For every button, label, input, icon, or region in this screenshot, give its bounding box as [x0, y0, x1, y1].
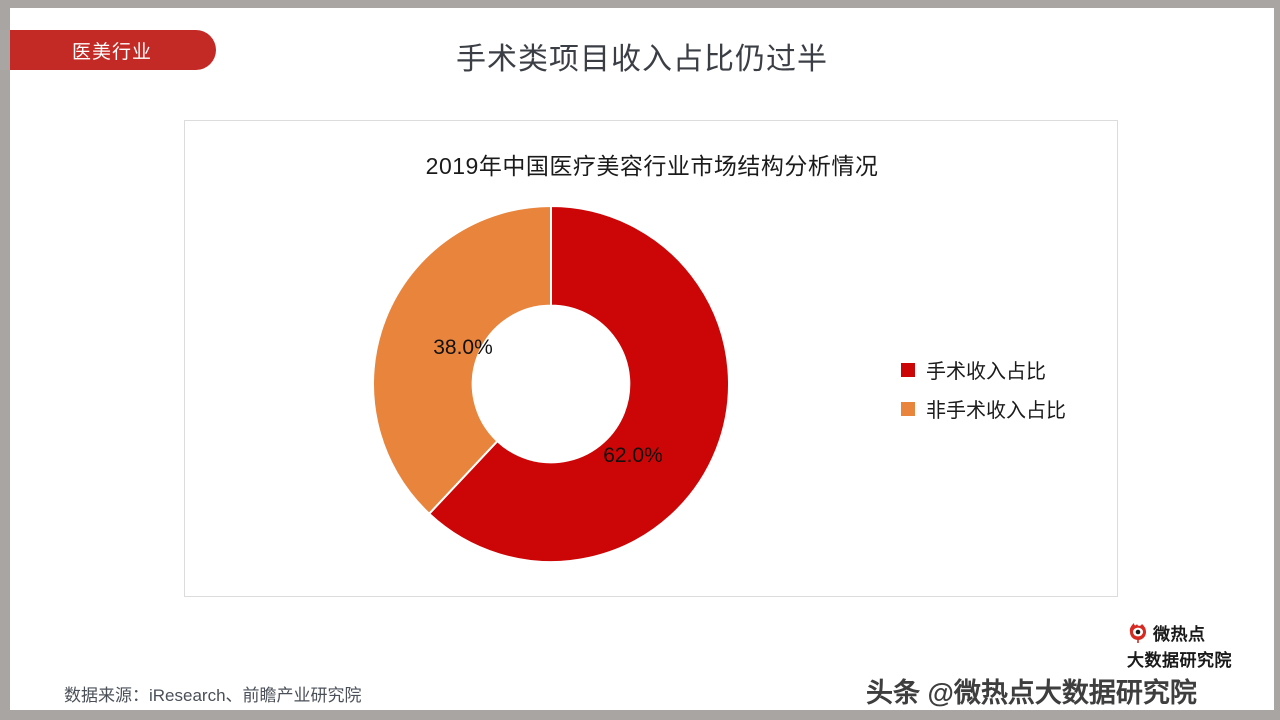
chart-title: 2019年中国医疗美容行业市场结构分析情况: [185, 147, 1119, 181]
brand-logo-subtitle: 大数据研究院: [1127, 646, 1267, 671]
legend-label-surgical: 手术收入占比: [926, 355, 1046, 384]
flame-eye-icon: [1127, 623, 1149, 643]
legend-item-surgical[interactable]: 手术收入占比: [901, 355, 1066, 384]
brand-logo: 微热点 大数据研究院: [1127, 620, 1267, 666]
legend-item-non-surgical[interactable]: 非手术收入占比: [901, 394, 1066, 423]
legend-swatch-surgical: [901, 363, 915, 377]
donut-label-non-surgical: 38.0%: [433, 336, 493, 359]
donut-hole: [472, 305, 630, 463]
brand-logo-top: 微热点: [1127, 620, 1267, 645]
legend-label-non-surgical: 非手术收入占比: [926, 394, 1066, 423]
data-source-note: 数据来源：iResearch、前瞻产业研究院: [64, 681, 362, 706]
donut-chart: 62.0% 38.0%: [371, 204, 731, 564]
donut-chart-svg: 62.0% 38.0%: [371, 204, 731, 564]
chart-panel: 2019年中国医疗美容行业市场结构分析情况 62.0% 38.0% 手术收入占比…: [184, 120, 1118, 597]
donut-label-surgical: 62.0%: [603, 444, 663, 467]
slide: 医美行业 手术类项目收入占比仍过半 2019年中国医疗美容行业市场结构分析情况 …: [10, 8, 1274, 710]
page-title: 手术类项目收入占比仍过半: [10, 34, 1274, 78]
brand-logo-name: 微热点: [1153, 620, 1206, 645]
watermark-text: 头条 @微热点大数据研究院: [866, 671, 1197, 710]
chart-legend: 手术收入占比 非手术收入占比: [901, 355, 1066, 423]
legend-swatch-non-surgical: [901, 402, 915, 416]
